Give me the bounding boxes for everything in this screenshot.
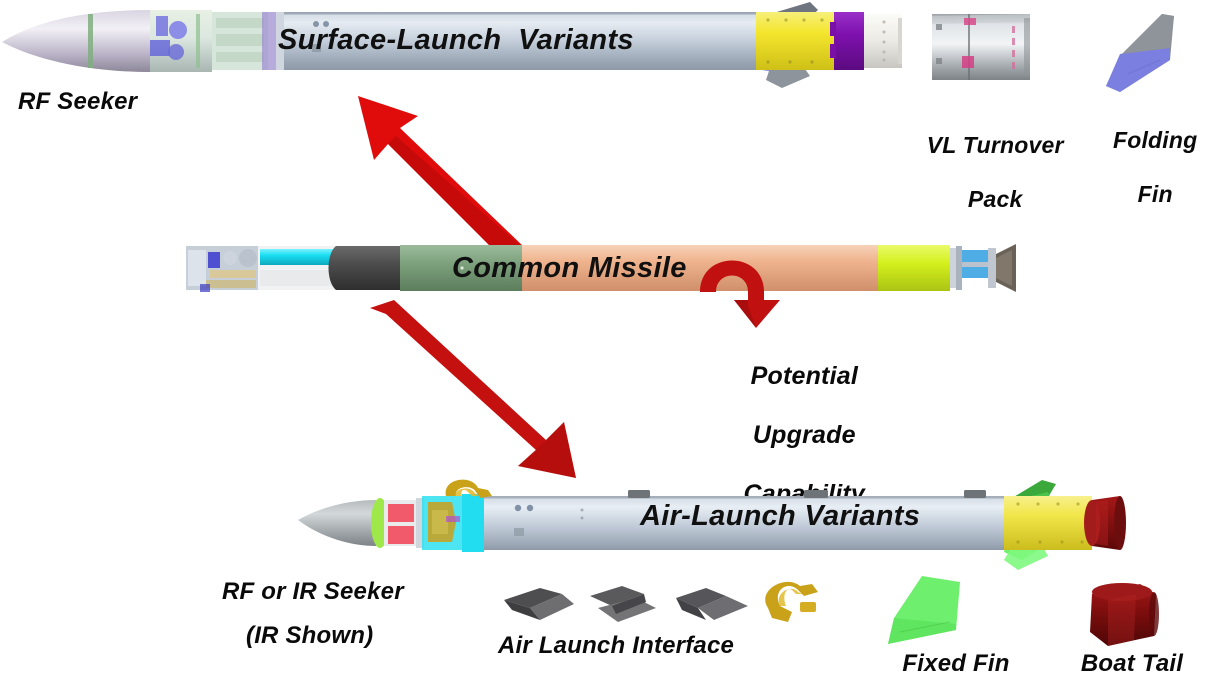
potential-line1: Potential: [751, 362, 858, 390]
bracket-3: [676, 588, 748, 620]
gold-lug-hook: [765, 582, 818, 622]
fixed-fin-graphic: [880, 572, 990, 650]
vl-turnover-line2: Pack: [968, 186, 1023, 212]
folding-fin-line1: Folding: [1113, 127, 1197, 153]
label-ir-shown: (IR Shown): [246, 622, 373, 650]
ir-seeker-internals: [371, 494, 484, 552]
label-fixed-fin: Fixed Fin: [902, 650, 1009, 678]
bracket-2: [590, 586, 656, 622]
bracket-1: [504, 588, 574, 620]
label-folding-fin: Folding Fin: [1087, 100, 1198, 236]
label-rf-or-ir-seeker: RF or IR Seeker: [222, 578, 404, 606]
common-missile-title: Common Missile: [452, 252, 687, 285]
potential-upgrade-curved-arrow: [694, 244, 804, 334]
boat-tail-graphic: [1078, 580, 1174, 650]
potential-line2: Upgrade: [753, 421, 856, 449]
surface-launch-title: Surface-Launch Variants: [278, 24, 634, 57]
label-vl-turnover-pack: VL Turnover Pack: [900, 105, 1063, 241]
label-air-launch-interface: Air Launch Interface: [498, 632, 734, 660]
vl-turnover-line1: VL Turnover: [927, 132, 1064, 158]
diagram-canvas: Surface-Launch Variants RF Seeker: [0, 0, 1222, 690]
upgrade-to-air-arrow: [364, 300, 624, 480]
air-launch-title: Air-Launch Variants: [640, 500, 920, 533]
label-boat-tail: Boat Tail: [1081, 650, 1183, 678]
air-launch-interface-graphic: [500, 578, 820, 636]
label-rf-seeker: RF Seeker: [18, 88, 137, 116]
folding-fin-graphic: [1098, 8, 1188, 100]
vl-turnover-pack-graphic: [928, 8, 1038, 88]
folding-fin-line2: Fin: [1138, 181, 1173, 207]
air-launch-missile: [296, 480, 1126, 590]
